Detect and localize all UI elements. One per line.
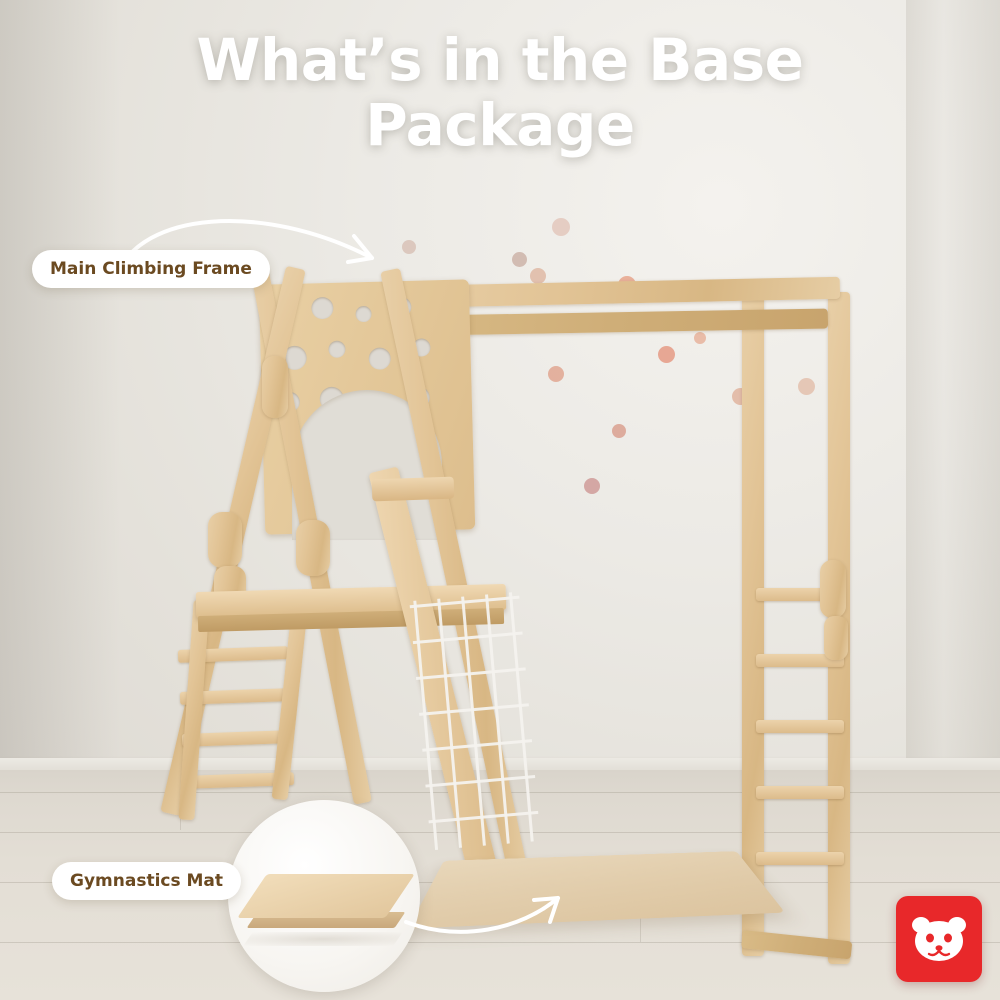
callout-gymnastics-mat[interactable]: Gymnastics Mat (52, 862, 241, 900)
decor-dot (552, 218, 570, 236)
callout-main-climbing-frame-label: Main Climbing Frame (50, 259, 252, 279)
climbing-grip (824, 616, 848, 660)
decor-dot (658, 346, 675, 363)
brand-logo[interactable] (896, 896, 982, 982)
ladder-rung-right (756, 720, 844, 733)
gymnastics-mat-inset (228, 800, 420, 992)
decor-dot (512, 252, 527, 267)
ladder-rung-right (756, 852, 844, 865)
callout-main-climbing-frame[interactable]: Main Climbing Frame (32, 250, 270, 288)
cargo-net (409, 592, 540, 851)
red-panda-logo-icon (909, 911, 969, 967)
decor-dot (798, 378, 815, 395)
callout-gymnastics-mat-label: Gymnastics Mat (70, 871, 223, 891)
ramp-crossbar (372, 477, 455, 502)
inset-shadow (243, 932, 402, 946)
decor-dot (612, 424, 626, 438)
ladder-rung-right (756, 786, 844, 799)
decor-dot (694, 332, 706, 344)
page-title-line2: Package (0, 93, 1000, 158)
climbing-grip (262, 356, 288, 418)
page-title: What’s in the Base Package (0, 28, 1000, 158)
climbing-grip (208, 512, 242, 568)
decor-dot (402, 240, 416, 254)
inset-mat-top (237, 874, 415, 918)
decor-dot (548, 366, 564, 382)
decor-dot (530, 268, 546, 284)
decor-dot (584, 478, 600, 494)
climbing-grip (296, 520, 330, 576)
page-title-line1: What’s in the Base (0, 28, 1000, 93)
climbing-grip (820, 560, 846, 618)
